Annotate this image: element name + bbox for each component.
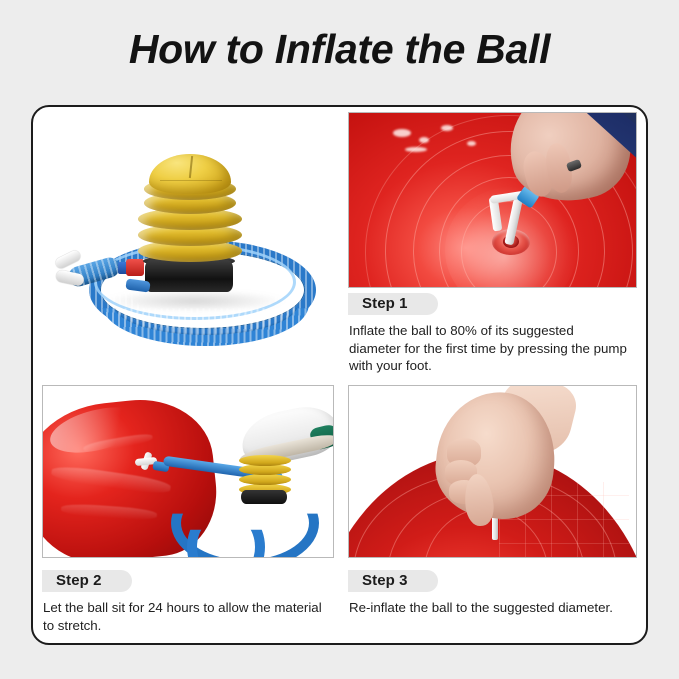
step-3-badge-label: Step 3: [362, 572, 408, 589]
step-1-photo: [348, 112, 637, 288]
dome-seam: [160, 180, 222, 181]
bellows-ring: [239, 455, 291, 466]
ball-highlight: [393, 129, 411, 137]
step-2-badge-label: Step 2: [56, 572, 102, 589]
infographic-page: How to Inflate the Ball: [0, 0, 679, 679]
step-3-photo: [348, 385, 637, 558]
ball-highlight: [419, 137, 429, 143]
ball-highlight: [405, 147, 427, 152]
foot-pump-illustration: [42, 112, 334, 360]
step-1-badge: Step 1: [348, 293, 438, 315]
step-2-illustration: [43, 386, 333, 557]
cell-step-1: [348, 112, 637, 288]
bellows-ring: [239, 474, 291, 485]
foot-pump-photo: [42, 112, 334, 360]
pump-bellows: [138, 154, 242, 266]
pump-black-base: [241, 490, 287, 504]
page-title: How to Inflate the Ball: [0, 26, 679, 73]
step-3-caption: Re-inflate the ball to the suggested dia…: [349, 599, 639, 617]
step-1-badge-label: Step 1: [362, 295, 408, 312]
step-2-badge: Step 2: [42, 570, 132, 592]
cell-step-3: [348, 385, 637, 558]
ball-highlight: [467, 141, 476, 146]
step-3-illustration: [349, 386, 636, 557]
ball-highlight: [441, 125, 453, 131]
step-2-photo: [42, 385, 334, 558]
cell-pump-overview: [42, 112, 334, 360]
step-1-illustration: [349, 113, 636, 287]
step-1-caption: Inflate the ball to 80% of its suggested…: [349, 322, 629, 375]
cell-step-2: [42, 385, 334, 558]
step-2-caption: Let the ball sit for 24 hours to allow t…: [43, 599, 328, 634]
step-3-badge: Step 3: [348, 570, 438, 592]
